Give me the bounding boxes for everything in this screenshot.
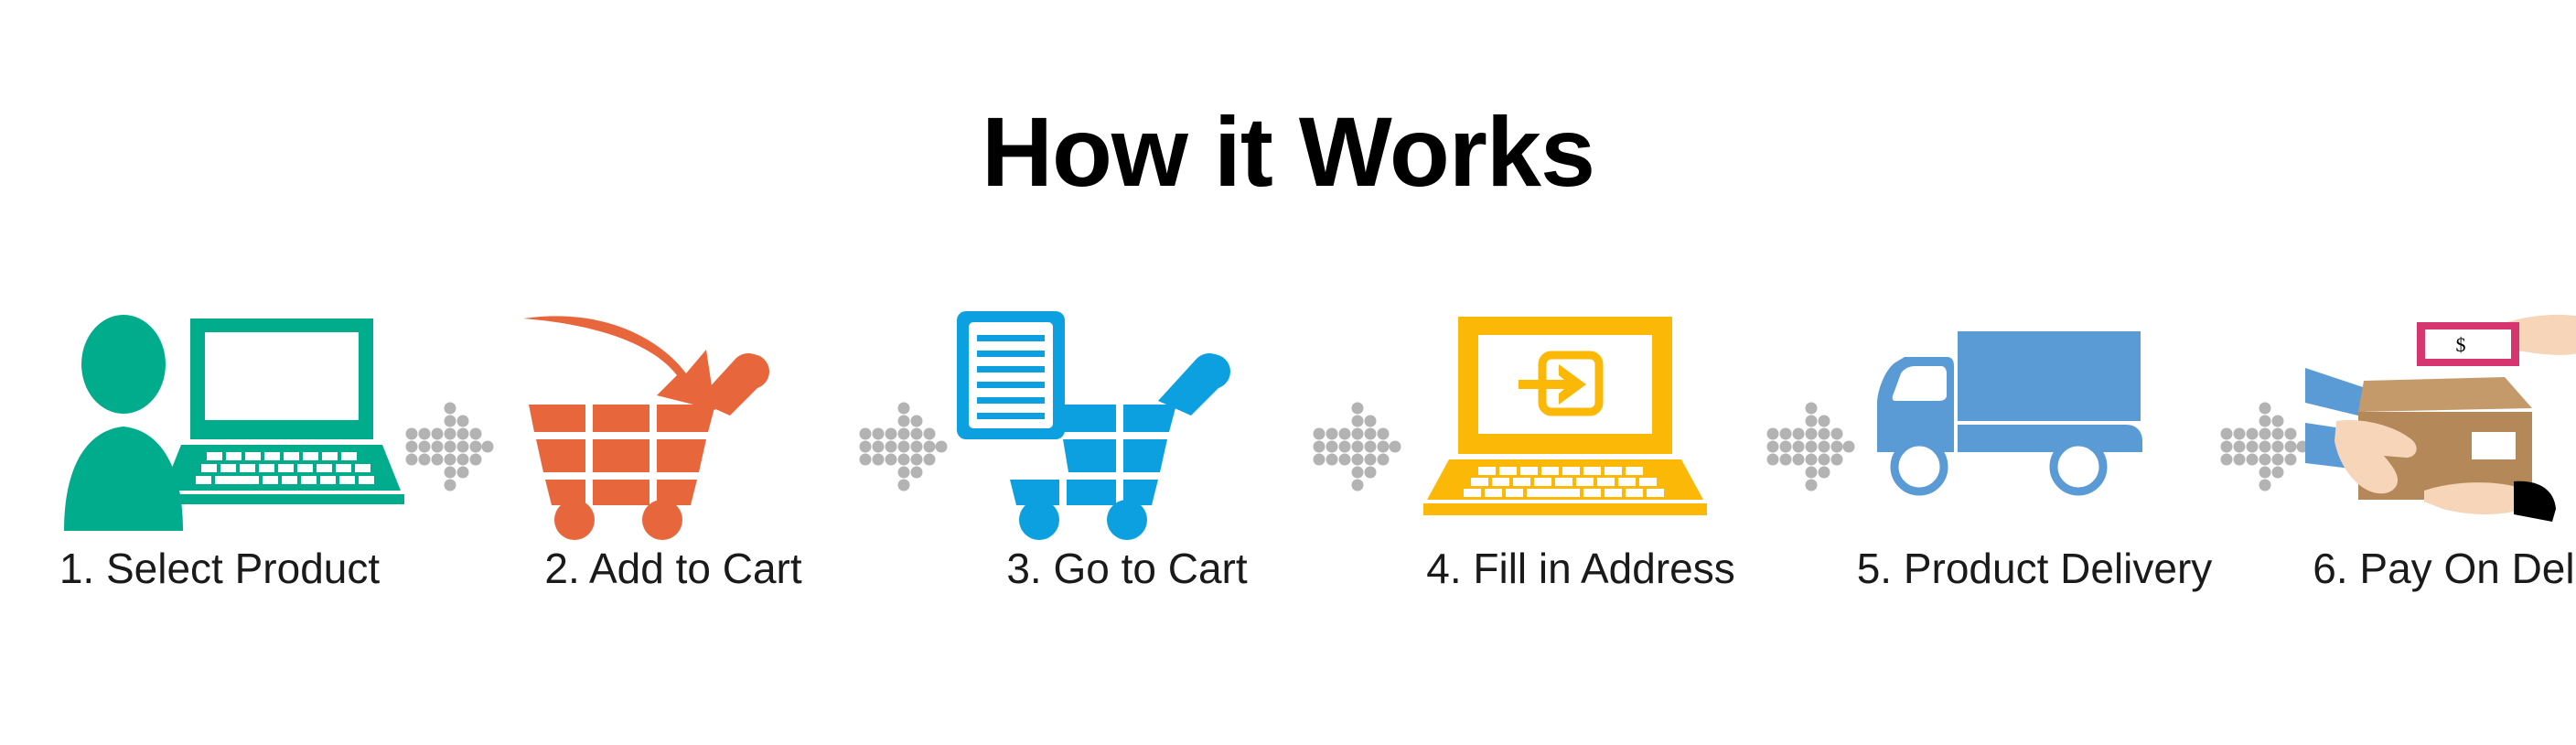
black-sleeve-lower — [2514, 481, 2556, 522]
delivery-truck-icon — [1851, 302, 2217, 531]
dotted-arrow-right-icon — [402, 401, 490, 485]
money-bill-face — [2425, 329, 2511, 359]
dotted-arrow-right-icon — [856, 401, 944, 485]
separator-5 — [2217, 302, 2305, 632]
page-title: How it Works — [0, 103, 2576, 201]
dotted-arrow-right-icon — [1764, 401, 1851, 485]
step-3-icon-area — [944, 302, 1310, 531]
step-3-go-to-cart[interactable]: 3. Go to Cart — [944, 302, 1310, 632]
step-6-icon-area: $ — [2305, 302, 2576, 531]
step-2-icon-area — [490, 302, 856, 531]
step-5-label: 5. Product Delivery — [1851, 547, 2217, 589]
laptop-login-icon — [1398, 302, 1764, 531]
step-4-icon-area — [1398, 302, 1764, 531]
dollar-symbol: $ — [2456, 333, 2466, 356]
step-5-icon-area — [1851, 302, 2217, 531]
dotted-arrow-right-icon — [1310, 401, 1398, 485]
step-3-label: 3. Go to Cart — [944, 547, 1310, 589]
dotted-arrow-right-icon — [2217, 401, 2305, 485]
step-1-icon-area — [37, 302, 402, 531]
cart-with-arrow-icon — [490, 302, 856, 531]
step-1-select-product[interactable]: 1. Select Product — [37, 302, 402, 632]
box-label — [2472, 432, 2516, 459]
step-2-add-to-cart[interactable]: 2. Add to Cart — [490, 302, 856, 632]
step-4-fill-in-address[interactable]: 4. Fill in Address — [1398, 302, 1764, 632]
document-and-cart-icon — [944, 302, 1310, 531]
box-top — [2358, 377, 2532, 412]
hand-skin-lower — [2424, 482, 2528, 514]
separator-3 — [1310, 302, 1398, 632]
step-1-label: 1. Select Product — [37, 547, 402, 589]
step-6-pay-on-delivery[interactable]: $ 6. Pay On D — [2305, 302, 2576, 632]
step-6-label: 6. Pay On Delivery — [2305, 547, 2576, 589]
step-2-label: 2. Add to Cart — [490, 547, 856, 589]
separator-2 — [856, 302, 944, 632]
blue-sleeve-upper — [2305, 368, 2366, 417]
person-at-laptop-icon — [37, 302, 402, 531]
step-5-product-delivery[interactable]: 5. Product Delivery — [1851, 302, 2217, 632]
separator-4 — [1764, 302, 1851, 632]
steps-row: 1. Select Product — [37, 302, 2539, 632]
step-4-label: 4. Fill in Address — [1398, 547, 1764, 589]
separator-1 — [402, 302, 490, 632]
hands-exchange-box-and-money-icon: $ — [2305, 302, 2576, 531]
infographic-page: How it Works — [0, 0, 2576, 745]
